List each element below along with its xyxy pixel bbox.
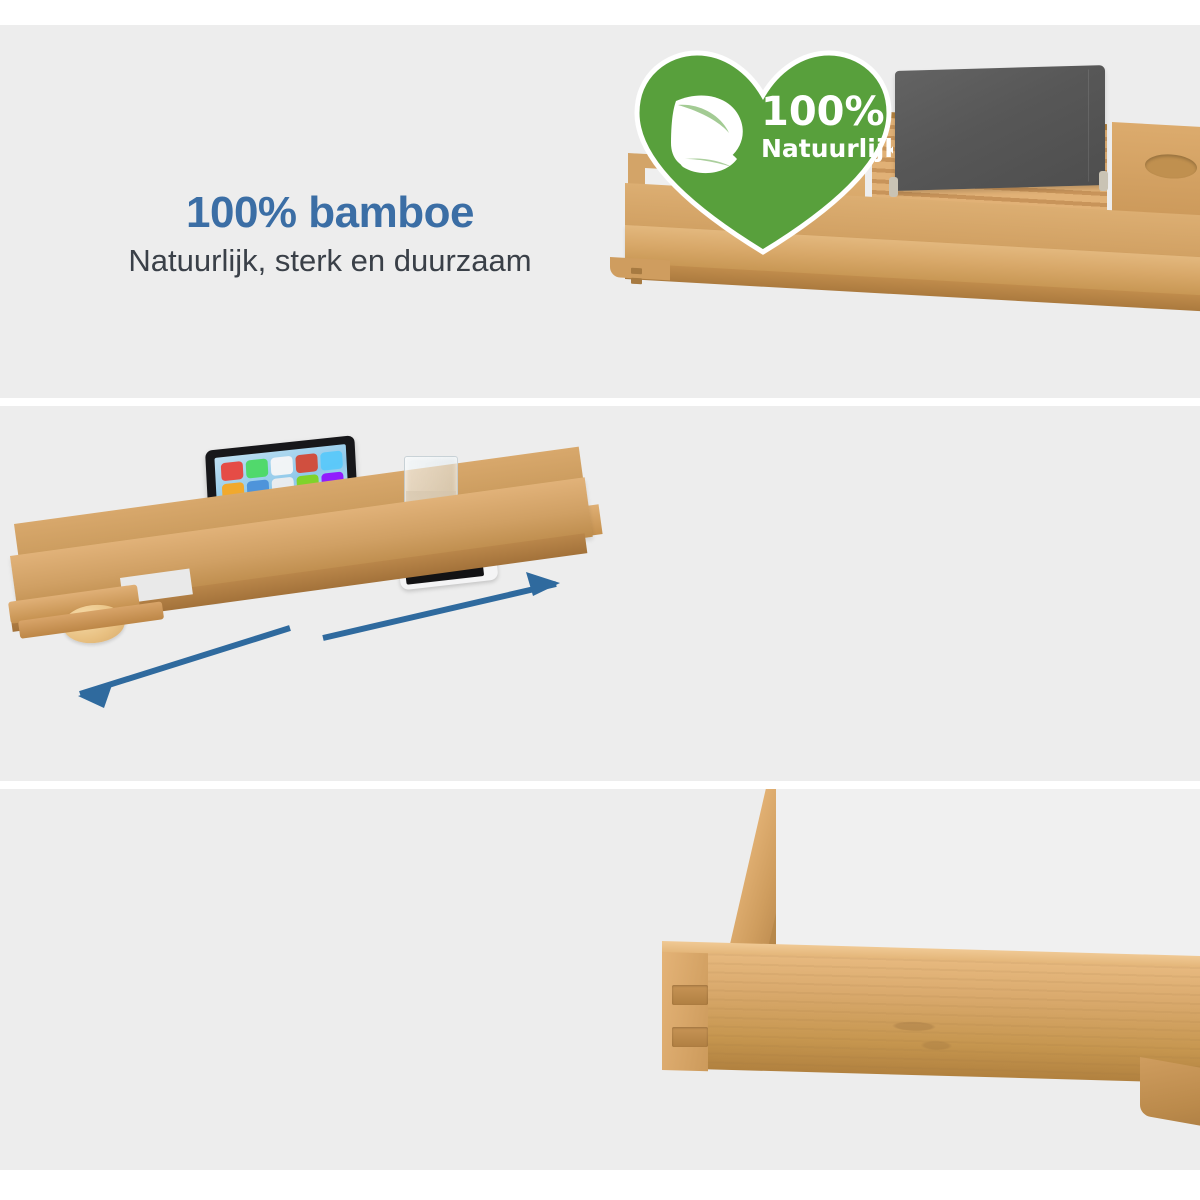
expansion-arrows — [0, 406, 620, 781]
subline-bamboo: Natuurlijk, sterk en duurzaam — [30, 242, 630, 280]
product-feature-graphic: 100% Natuurlijk 100% bamboe Natuurlijk, … — [0, 0, 1200, 1200]
bathtub-tray-image-corner-joint — [620, 789, 1200, 1170]
cushion-hinge-right — [1099, 171, 1108, 191]
leaf-icon — [671, 95, 743, 173]
badge-line-1: 100% — [761, 89, 885, 135]
gray-reading-cushion — [895, 65, 1105, 191]
badge-line-2: Natuurlijk — [761, 134, 893, 163]
bathtub-tray-image-adjustable: 377 — [0, 406, 620, 781]
feature-panel-adjustable: 377 — [0, 406, 1200, 781]
joint-pin — [631, 278, 642, 285]
arrow-right-icon — [323, 572, 560, 638]
bamboo-grain-texture — [662, 952, 1200, 1084]
joint-pin — [631, 268, 642, 275]
feature-panel-bamboo: 100% Natuurlijk 100% bamboe Natuurlijk, … — [0, 25, 1200, 398]
feature-panel-antislip: Stevig en anti slip design Voorkomt schu… — [0, 789, 1200, 1170]
headline-bamboo: 100% bamboe — [30, 190, 630, 236]
badge-100-procent-natuurlijk: 100% Natuurlijk — [633, 47, 893, 262]
feature-text-bamboo: 100% bamboe Natuurlijk, sterk en duurzaa… — [30, 190, 630, 280]
dovetail-joint-pin — [672, 985, 708, 1005]
arrow-left-icon — [78, 628, 290, 708]
dovetail-joint-pin — [672, 1027, 708, 1047]
tray-tapered-tail — [1140, 1057, 1200, 1134]
tray-corner-end-face — [662, 952, 708, 1071]
tray-inner-opening — [776, 789, 1200, 963]
